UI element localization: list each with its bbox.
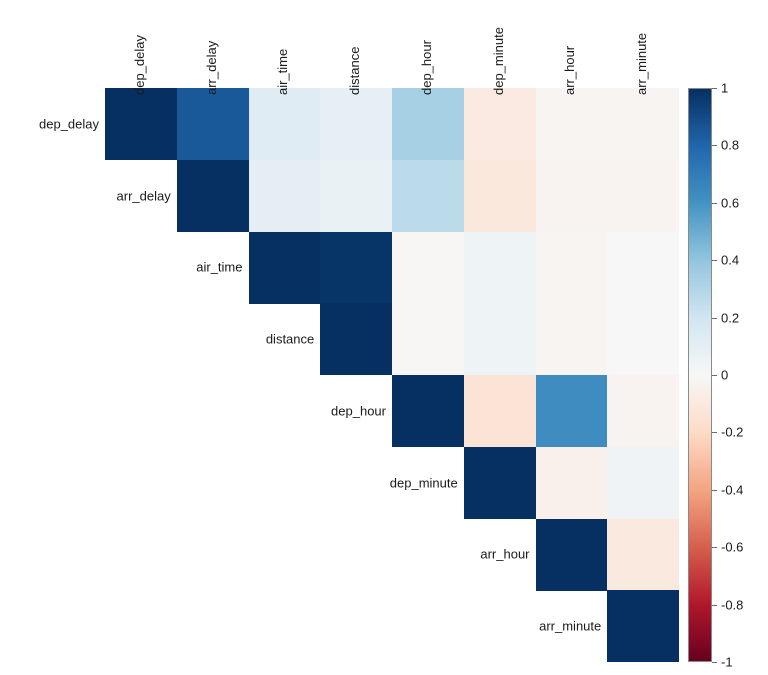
colorbar-tick-label-0: 0 <box>721 369 728 382</box>
column-label-arr_delay: arr_delay <box>205 41 218 95</box>
heatmap-cell-arr_delay-distance <box>320 160 392 232</box>
heatmap-cell-distance-arr_hour <box>536 303 608 375</box>
heatmap-cell-distance-dep_minute <box>464 303 536 375</box>
colorbar-tick-label--0.6: -0.6 <box>721 541 743 554</box>
heatmap-cell-arr_delay-arr_minute <box>607 160 679 232</box>
heatmap-cell-dep_hour-dep_hour <box>392 375 464 447</box>
colorbar-tick-label-1: 1 <box>721 82 728 95</box>
heatmap-cell-arr_delay-dep_minute <box>464 160 536 232</box>
column-label-arr_minute: arr_minute <box>635 33 648 95</box>
heatmap-cell-distance-distance <box>320 303 392 375</box>
heatmap-cell-arr_minute-arr_minute <box>607 590 679 662</box>
colorbar-tick-mark-0.6 <box>712 203 717 204</box>
heatmap-cell-dep_minute-arr_hour <box>536 447 608 519</box>
colorbar-tick-label-0.4: 0.4 <box>721 254 739 267</box>
colorbar-tick-label--1: -1 <box>721 656 733 669</box>
row-label-dep_hour: dep_hour <box>0 404 386 417</box>
colorbar: 10.80.60.40.20-0.2-0.4-0.6-0.8-1 <box>688 88 712 662</box>
heatmap-cell-air_time-dep_minute <box>464 232 536 304</box>
colorbar-tick-label-0.8: 0.8 <box>721 139 739 152</box>
colorbar-tick-label-0.6: 0.6 <box>721 196 739 209</box>
heatmap-cell-distance-arr_minute <box>607 303 679 375</box>
heatmap-cell-arr_delay-air_time <box>249 160 321 232</box>
heatmap-cell-arr_delay-arr_hour <box>536 160 608 232</box>
colorbar-tick-label--0.2: -0.2 <box>721 426 743 439</box>
column-label-distance: distance <box>348 47 361 95</box>
heatmap-cell-dep_delay-dep_delay <box>105 88 177 160</box>
row-label-distance: distance <box>0 333 314 346</box>
colorbar-tick-label--0.8: -0.8 <box>721 598 743 611</box>
colorbar-tick-mark--0.4 <box>712 490 717 491</box>
heatmap-cell-dep_delay-dep_hour <box>392 88 464 160</box>
colorbar-tick-mark-0.8 <box>712 145 717 146</box>
column-label-dep_delay: dep_delay <box>133 35 146 95</box>
column-label-arr_hour: arr_hour <box>563 46 576 95</box>
column-label-dep_hour: dep_hour <box>420 40 433 95</box>
heatmap-cell-air_time-dep_hour <box>392 232 464 304</box>
column-label-dep_minute: dep_minute <box>492 27 505 95</box>
heatmap-cell-dep_hour-dep_minute <box>464 375 536 447</box>
colorbar-tick-mark-0.4 <box>712 260 717 261</box>
heatmap-cell-dep_delay-arr_hour <box>536 88 608 160</box>
heatmap-cell-dep_delay-arr_minute <box>607 88 679 160</box>
colorbar-tick-mark-1 <box>712 88 717 89</box>
heatmap-cell-air_time-arr_minute <box>607 232 679 304</box>
row-label-arr_delay: arr_delay <box>0 189 171 202</box>
colorbar-tick-mark-0 <box>712 375 717 376</box>
heatmap-cell-dep_minute-arr_minute <box>607 447 679 519</box>
heatmap-grid <box>105 88 679 662</box>
colorbar-tick-label--0.4: -0.4 <box>721 483 743 496</box>
colorbar-tick-mark--0.2 <box>712 432 717 433</box>
heatmap-cell-arr_hour-arr_minute <box>607 519 679 591</box>
correlation-heatmap-figure: dep_delayarr_delayair_timedistancedep_ho… <box>0 0 768 675</box>
colorbar-tick-mark--1 <box>712 662 717 663</box>
heatmap-cell-dep_delay-dep_minute <box>464 88 536 160</box>
colorbar-tick-label-0.2: 0.2 <box>721 311 739 324</box>
heatmap-cell-air_time-arr_hour <box>536 232 608 304</box>
heatmap-cell-arr_delay-arr_delay <box>177 160 249 232</box>
heatmap-cell-dep_minute-dep_minute <box>464 447 536 519</box>
heatmap-cell-dep_delay-arr_delay <box>177 88 249 160</box>
row-label-dep_minute: dep_minute <box>0 476 458 489</box>
heatmap-cell-distance-dep_hour <box>392 303 464 375</box>
heatmap-cell-air_time-distance <box>320 232 392 304</box>
heatmap-cell-dep_delay-air_time <box>249 88 321 160</box>
row-label-dep_delay: dep_delay <box>0 117 99 130</box>
heatmap-cell-dep_delay-distance <box>320 88 392 160</box>
row-label-arr_hour: arr_hour <box>0 548 530 561</box>
colorbar-tick-mark-0.2 <box>712 318 717 319</box>
heatmap-cell-dep_hour-arr_hour <box>536 375 608 447</box>
column-label-air_time: air_time <box>276 49 289 95</box>
heatmap-cell-air_time-air_time <box>249 232 321 304</box>
colorbar-gradient <box>688 88 712 662</box>
heatmap-cell-arr_hour-arr_hour <box>536 519 608 591</box>
row-label-air_time: air_time <box>0 261 243 274</box>
heatmap-cell-dep_hour-arr_minute <box>607 375 679 447</box>
row-label-arr_minute: arr_minute <box>0 620 601 633</box>
colorbar-tick-mark--0.6 <box>712 547 717 548</box>
heatmap-cell-arr_delay-dep_hour <box>392 160 464 232</box>
colorbar-tick-mark--0.8 <box>712 605 717 606</box>
